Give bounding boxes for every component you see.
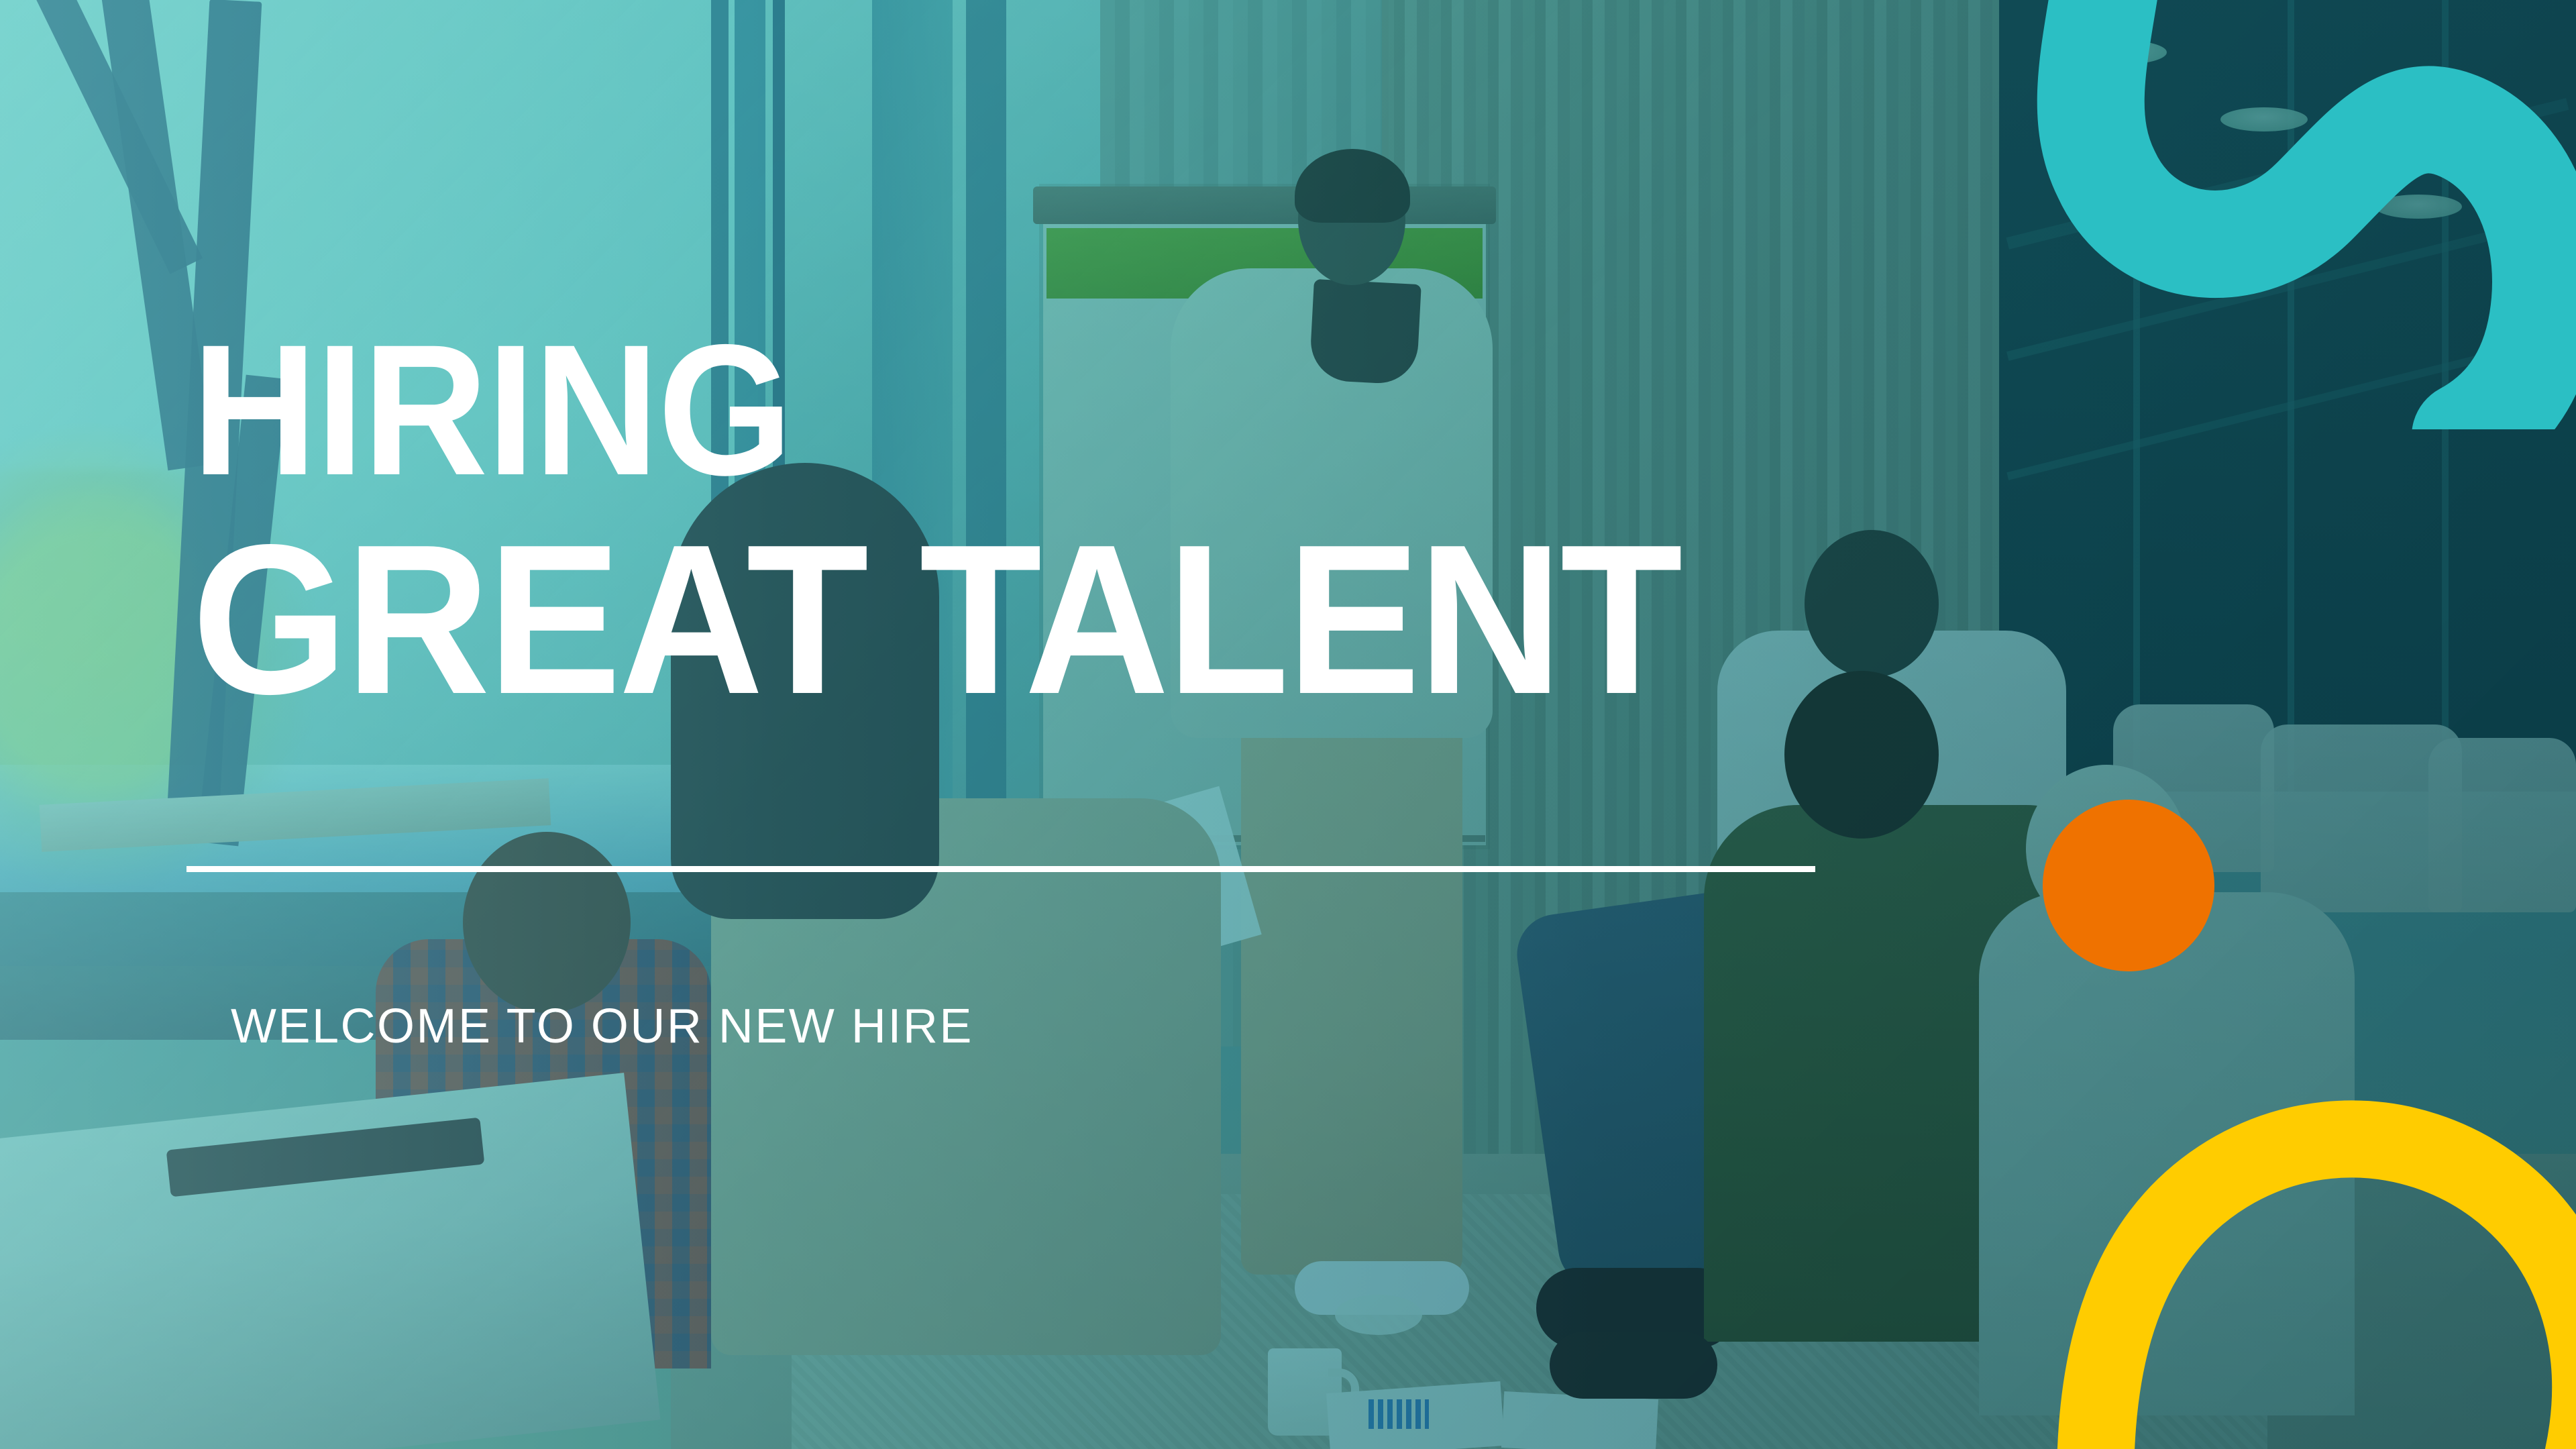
- page-title: HIRING GREAT TALENT: [192, 329, 1775, 711]
- banner-content: HIRING GREAT TALENT WELCOME TO OUR NEW H…: [0, 0, 2576, 1449]
- divider-rule: [186, 866, 1815, 872]
- hiring-banner: HIRING GREAT TALENT WELCOME TO OUR NEW H…: [0, 0, 2576, 1449]
- headline-line-1: HIRING: [192, 329, 1664, 490]
- banner-subtitle: WELCOME TO OUR NEW HIRE: [231, 999, 973, 1054]
- headline-line-2: GREAT TALENT: [192, 528, 1680, 711]
